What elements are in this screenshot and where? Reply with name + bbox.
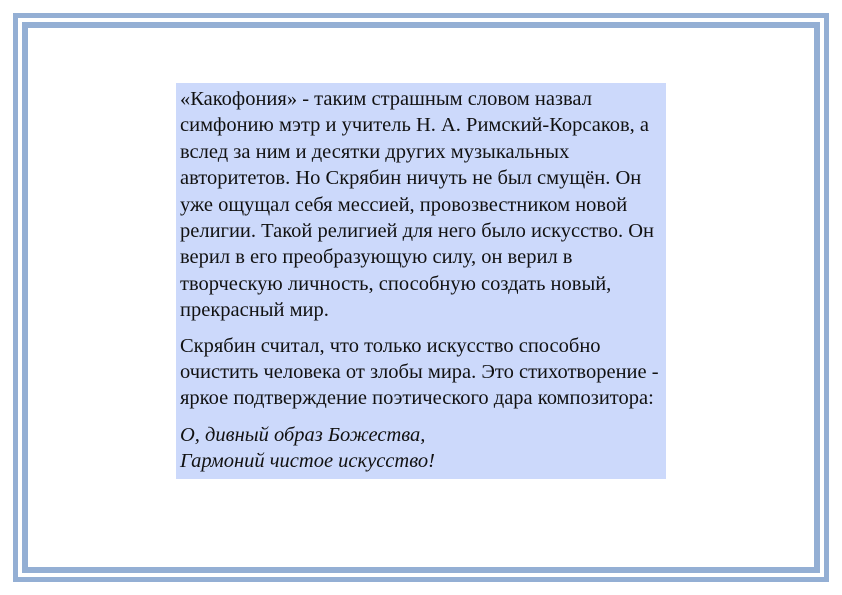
- slide-content: «Какофония» - таким страшным словом назв…: [176, 83, 666, 479]
- body-paragraph-2: Скрябин считал, что только искусство спо…: [176, 333, 666, 412]
- highlighted-text-block: «Какофония» - таким страшным словом назв…: [176, 83, 666, 479]
- verse-line-1: О, дивный образ Божества,: [180, 422, 660, 448]
- verse-line-2: Гармоний чистое искусство!: [180, 448, 660, 474]
- body-paragraph-1: «Какофония» - таким страшным словом назв…: [176, 86, 666, 324]
- verse-quote: О, дивный образ Божества, Гармоний чисто…: [176, 422, 666, 475]
- slide-canvas: «Какофония» - таким страшным словом назв…: [0, 0, 842, 595]
